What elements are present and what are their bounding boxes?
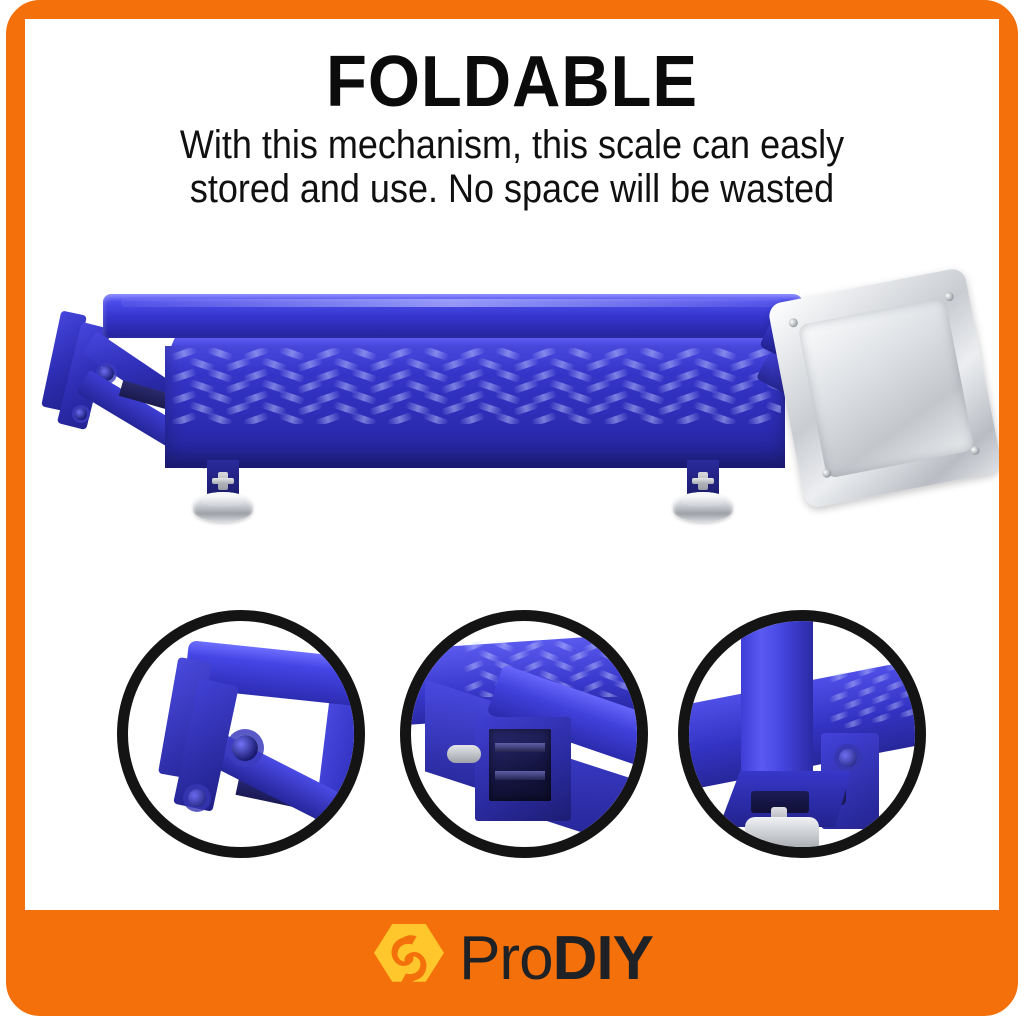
- inset-column-base-image: [689, 621, 915, 847]
- brand-name-diy: DIY: [553, 924, 653, 993]
- foot-pad: [673, 492, 733, 522]
- stainless-steel-display-head: [767, 267, 999, 509]
- base-bolt: [839, 749, 857, 767]
- latch-pin: [447, 745, 481, 763]
- foot-pad: [193, 492, 253, 522]
- subtitle-line-1: With this mechanism, this scale can easl…: [74, 123, 951, 167]
- inset-column-base: [678, 610, 926, 858]
- inset-locking-bracket-image: [411, 621, 637, 847]
- latch-bar: [495, 743, 545, 752]
- hinge-pivot-bolt: [232, 735, 258, 761]
- detail-inset-row: [25, 604, 999, 874]
- leveling-foot: [745, 817, 819, 858]
- prodiy-hexagon-swirl-icon: [371, 921, 447, 997]
- leveling-foot-right: [673, 460, 733, 528]
- page-title: FOLDABLE: [59, 45, 965, 119]
- content-area: FOLDABLE With this mechanism, this scale…: [25, 19, 999, 910]
- inset-folding-hinge: [117, 610, 365, 858]
- latch-bar: [495, 771, 545, 780]
- rail-highlight: [121, 299, 781, 307]
- brand-wordmark: ProDIY: [459, 928, 653, 990]
- latch-housing: [489, 729, 551, 801]
- inset-locking-bracket: [400, 610, 648, 858]
- subtitle-line-2: stored and use. No space will be wasted: [74, 167, 951, 211]
- brand-name-pro: Pro: [459, 924, 552, 993]
- promo-card: FOLDABLE With this mechanism, this scale…: [0, 0, 1024, 1024]
- diamond-plate-texture: [171, 348, 781, 424]
- leveling-foot-left: [193, 460, 253, 528]
- foot-stud: [698, 472, 708, 490]
- brand-footer: ProDIY: [25, 910, 999, 1008]
- display-face: [797, 297, 974, 479]
- inset-folding-hinge-image: [128, 621, 354, 847]
- subtitle: With this mechanism, this scale can easl…: [74, 123, 951, 211]
- hinge-secondary-bolt: [75, 408, 87, 420]
- headline-block: FOLDABLE With this mechanism, this scale…: [25, 45, 999, 211]
- hinge-secondary-bolt: [188, 789, 206, 807]
- foot-stud: [218, 472, 228, 490]
- hero-product-image: [25, 264, 999, 594]
